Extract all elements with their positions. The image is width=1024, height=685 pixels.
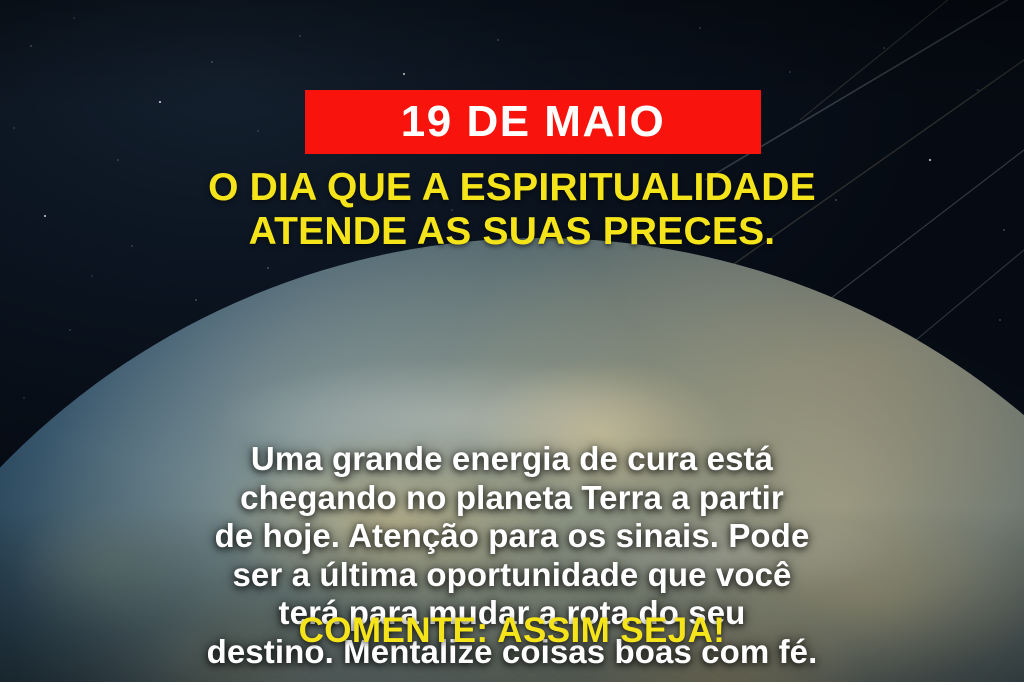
- body-line-2: chegando no planeta Terra a partir: [40, 479, 984, 518]
- headline-line-2: ATENDE AS SUAS PRECES.: [50, 210, 974, 254]
- body-line-1: Uma grande energia de cura está: [40, 440, 984, 479]
- headline-line-1: O DIA QUE A ESPIRITUALIDADE: [50, 166, 974, 210]
- poster-content: 19 DE MAIO O DIA QUE A ESPIRITUALIDADE A…: [0, 0, 1024, 685]
- date-badge: 19 DE MAIO: [305, 90, 761, 154]
- headline: O DIA QUE A ESPIRITUALIDADE ATENDE AS SU…: [0, 166, 1024, 253]
- date-badge-label: 19 DE MAIO: [401, 100, 665, 144]
- body-line-4: ser a última oportunidade que você: [40, 556, 984, 595]
- body-line-3: de hoje. Atenção para os sinais. Pode: [40, 517, 984, 556]
- cta-text: COMENTE: ASSIM SEJA!: [0, 613, 1024, 648]
- poster-canvas: 19 DE MAIO O DIA QUE A ESPIRITUALIDADE A…: [0, 0, 1024, 685]
